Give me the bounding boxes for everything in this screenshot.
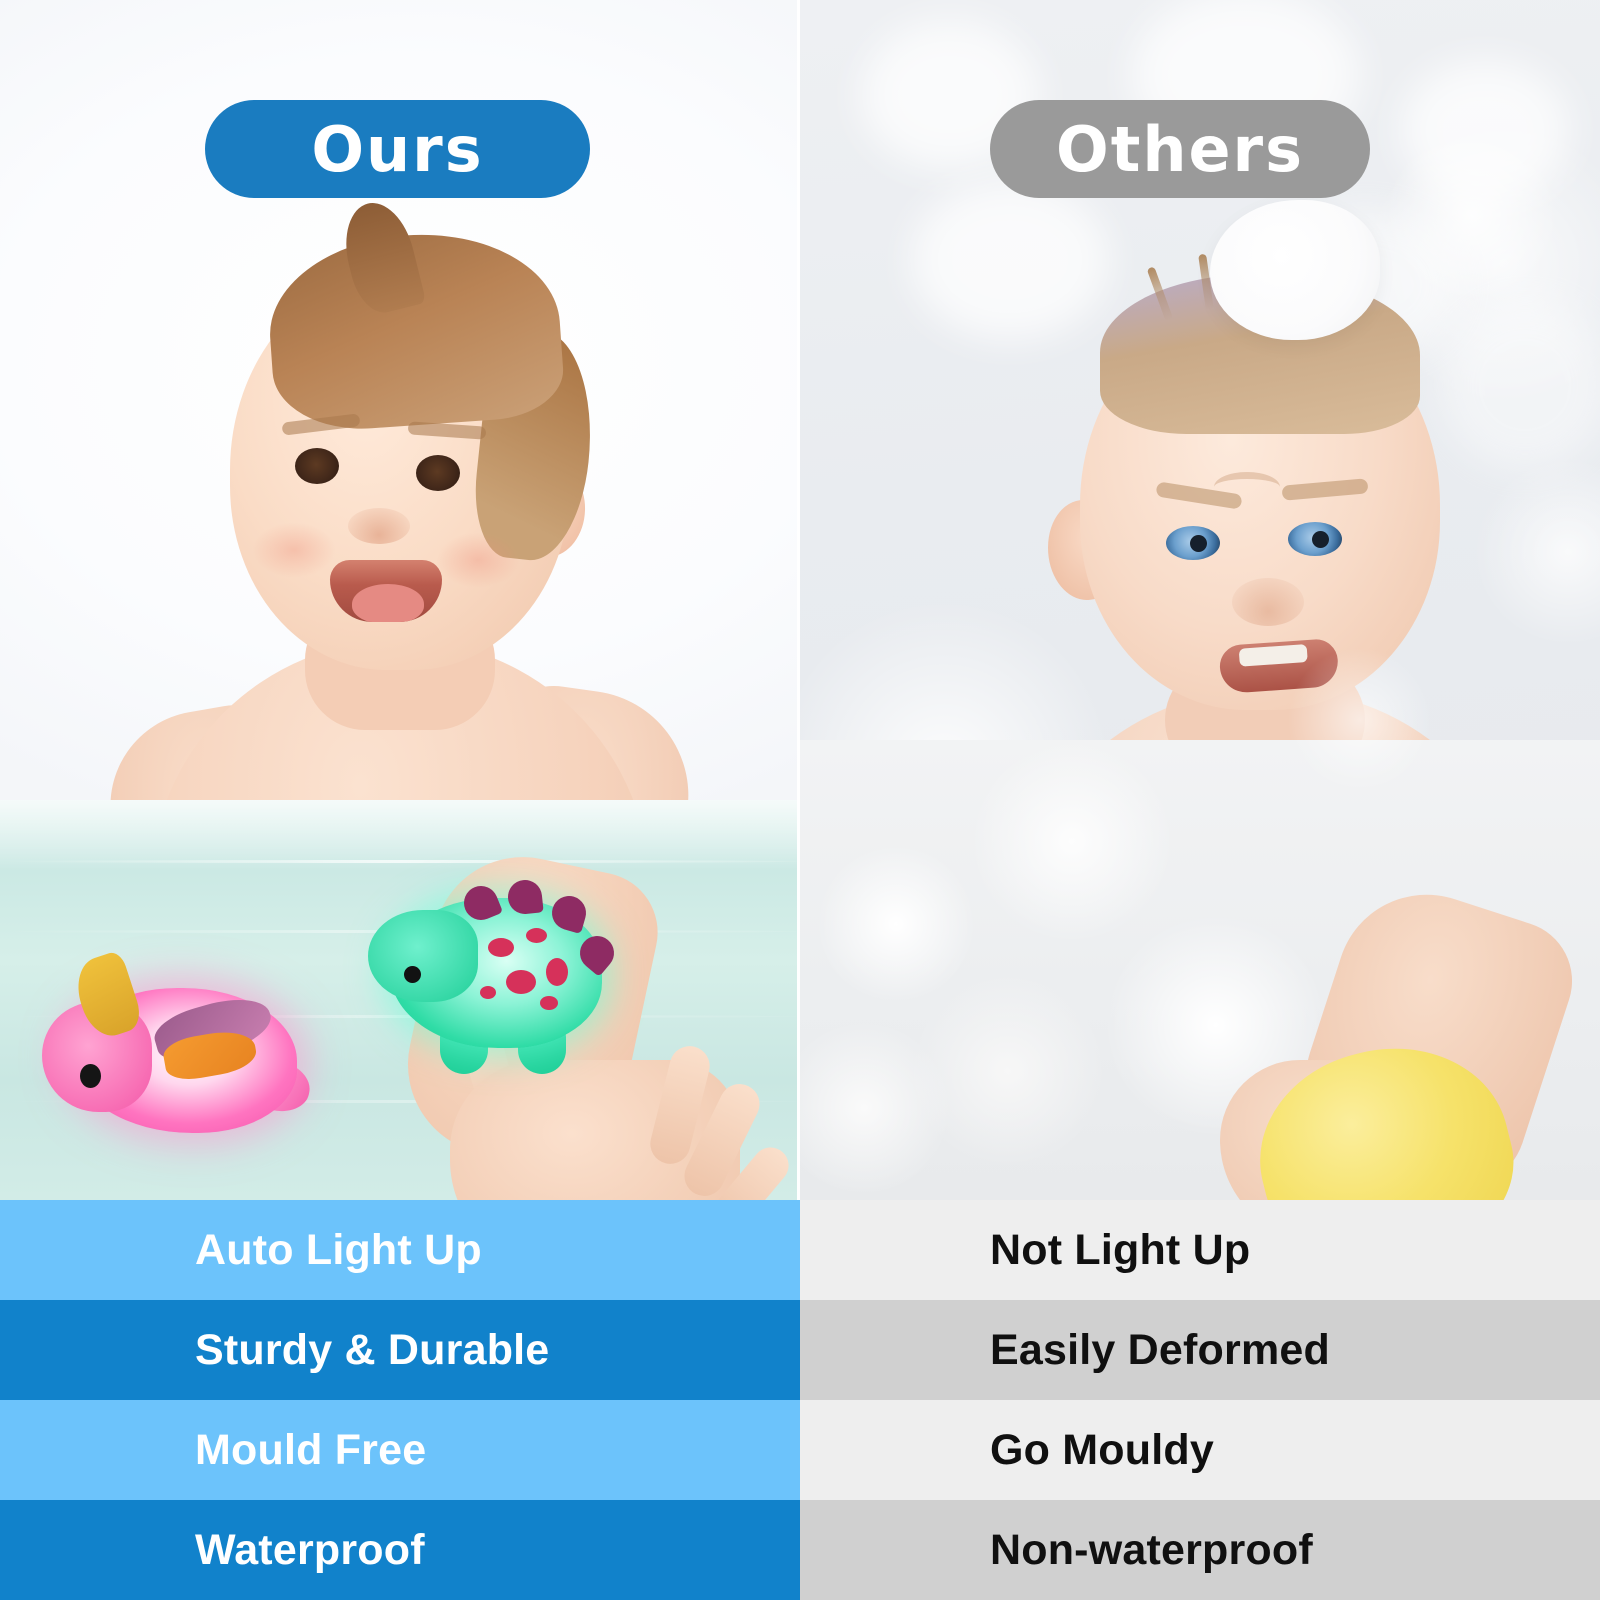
ours-baby-fingers-front [120,240,680,1200]
comparison-infographic: Ours [0,0,1600,1600]
foam-blob [1400,60,1570,200]
others-feature-cell: Non-waterproof [800,1500,1600,1600]
comparison-images-area: Ours [0,0,1600,1200]
ours-feature-cell: Sturdy & Durable [0,1300,800,1400]
others-feature-cell: Not Light Up [800,1200,1600,1300]
others-panel: Others [800,0,1600,1200]
others-feature-cell: Go Mouldy [800,1400,1600,1500]
others-badge[interactable]: Others [990,100,1370,198]
table-row: Mould Free Go Mouldy [0,1400,1600,1500]
table-row: Sturdy & Durable Easily Deformed [0,1300,1600,1400]
feature-comparison-table: Auto Light Up Not Light Up Sturdy & Dura… [0,1200,1600,1600]
ours-panel: Ours [0,0,800,1200]
panel-divider [797,0,800,1200]
table-row: Auto Light Up Not Light Up [0,1200,1600,1300]
ours-badge[interactable]: Ours [205,100,590,198]
ours-feature-cell: Auto Light Up [0,1200,800,1300]
ours-feature-cell: Mould Free [0,1400,800,1500]
ours-feature-cell: Waterproof [0,1500,800,1600]
table-row: Waterproof Non-waterproof [0,1500,1600,1600]
others-child-arm [970,260,1530,1200]
unicorn-eye [80,1064,101,1088]
others-feature-cell: Easily Deformed [800,1300,1600,1400]
